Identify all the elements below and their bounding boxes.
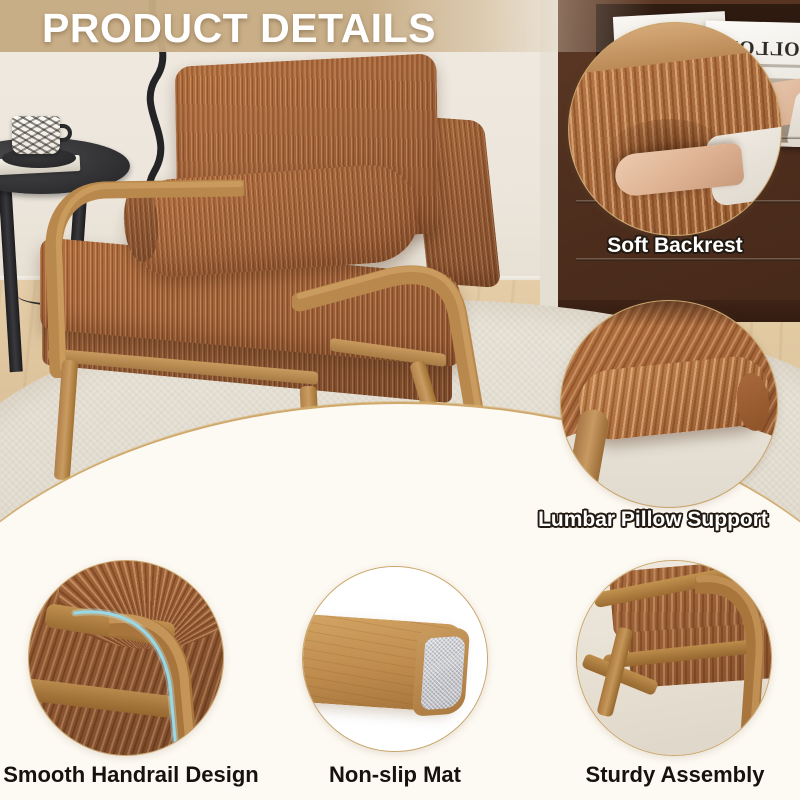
caption-soft-backrest: Soft Backrest xyxy=(568,234,782,258)
lumbar-background-wood xyxy=(560,300,778,327)
caption-sturdy-assembly: Sturdy Assembly xyxy=(555,762,795,788)
page-title: PRODUCT DETAILS xyxy=(42,5,436,52)
product-detail-infographic: FOLLOW xyxy=(0,0,800,800)
caption-smooth-handrail-design: Smooth Handrail Design xyxy=(0,762,262,788)
drawer-divider xyxy=(576,258,800,261)
callout-lumbar-pillow-support[interactable] xyxy=(560,300,778,508)
handrail-contour-highlight xyxy=(71,583,221,756)
callout-sturdy-assembly[interactable] xyxy=(576,560,772,756)
felt-pad xyxy=(420,636,465,711)
caption-lumbar-pillow-support: Lumbar Pillow Support xyxy=(508,508,798,532)
callout-soft-backrest[interactable] xyxy=(568,22,782,236)
callout-non-slip-mat[interactable] xyxy=(302,566,488,752)
chair-right-armrest xyxy=(292,210,502,420)
chair-left-armrest xyxy=(44,178,244,378)
callout-smooth-handrail-design[interactable] xyxy=(28,560,224,756)
caption-non-slip-mat: Non-slip Mat xyxy=(300,762,490,788)
assembly-curved-arm xyxy=(695,575,772,745)
